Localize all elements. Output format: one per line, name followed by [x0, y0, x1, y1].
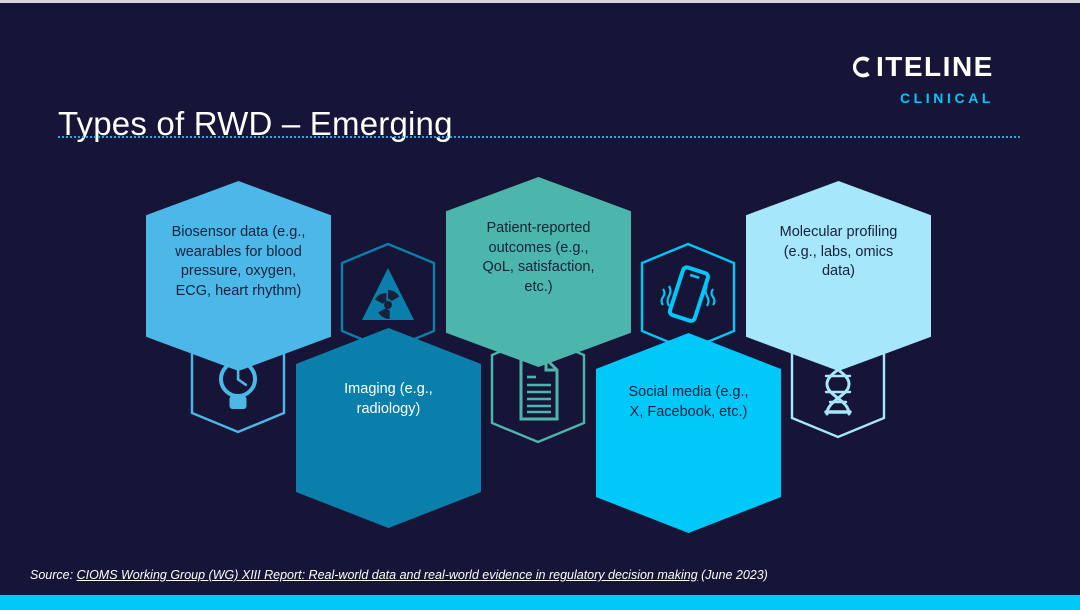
icon-hexagon-smartwatch[interactable] — [188, 323, 288, 435]
logo-word-text: ITELINE — [876, 53, 994, 81]
icon-hexagon-dna[interactable] — [788, 328, 888, 440]
source-footer: Source: CIOMS Working Group (WG) XIII Re… — [30, 568, 768, 582]
hexagon-patient-reported-outcomes-label: Patient-reported outcomes (e.g., QoL, sa… — [466, 219, 610, 297]
logo-subtitle: CLINICAL — [866, 90, 1028, 106]
logo-wordmark: ITELINE — [848, 53, 1028, 81]
hexagon-diagram: Biosensor data (e.g., wearables for bloo… — [0, 163, 1080, 543]
smartwatch-icon — [221, 349, 255, 409]
smartphone-icon — [662, 266, 715, 322]
source-prefix: Source: — [30, 568, 77, 582]
title-divider — [58, 136, 1020, 140]
document-icon — [521, 359, 557, 419]
hexagon-imaging-label: Imaging (e.g., radiology) — [328, 380, 449, 419]
radiation-icon — [362, 268, 414, 321]
hexagon-social-media-label: Social media (e.g., X, Facebook, etc.) — [612, 383, 764, 422]
citeline-logo: ITELINE CLINICAL — [848, 53, 1028, 106]
hexagon-imaging[interactable]: Imaging (e.g., radiology) — [296, 328, 481, 528]
hexagon-biosensor-label: Biosensor data (e.g., wearables for bloo… — [156, 223, 322, 301]
hexagon-molecular-profiling-label: Molecular profiling (e.g., labs, omics d… — [764, 223, 914, 282]
accent-bar — [0, 595, 1080, 610]
dna-icon — [826, 354, 850, 414]
hexagon-social-media[interactable]: Social media (e.g., X, Facebook, etc.) — [596, 333, 781, 533]
icon-hexagon-document[interactable] — [488, 333, 588, 445]
slide-canvas: Types of RWD – Emerging ITELINE CLINICAL… — [0, 0, 1080, 610]
source-suffix: (June 2023) — [698, 568, 768, 582]
source-link[interactable]: CIOMS Working Group (WG) XIII Report: Re… — [77, 568, 698, 582]
citeline-c-icon — [848, 54, 874, 80]
